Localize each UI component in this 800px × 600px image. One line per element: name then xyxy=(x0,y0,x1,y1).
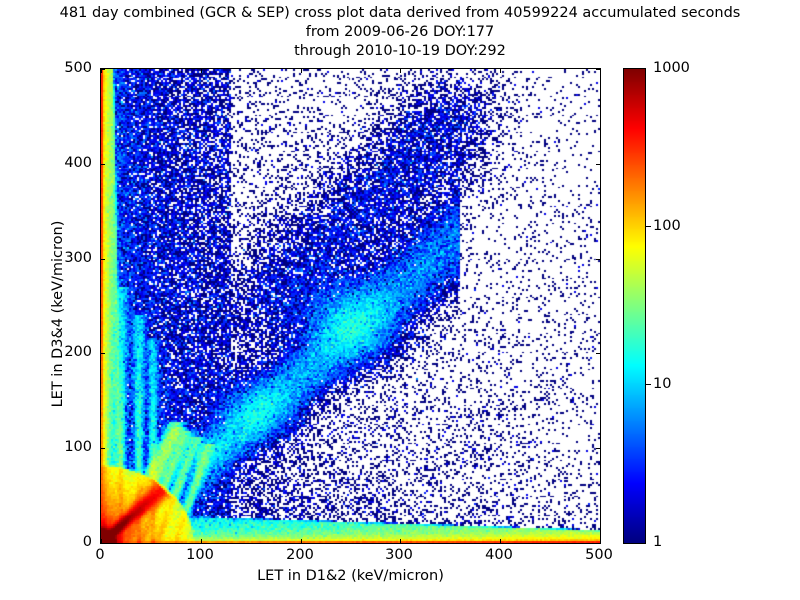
x-tick-label: 500 xyxy=(585,547,613,563)
plot-area xyxy=(100,68,601,544)
y-tick-mark xyxy=(101,448,105,449)
y-tick-mark-right xyxy=(596,69,600,70)
x-tick-label: 400 xyxy=(485,547,513,563)
colorbar-tick-label: 100 xyxy=(653,218,681,234)
y-tick-mark-right xyxy=(596,164,600,165)
colorbar xyxy=(623,68,646,544)
y-tick-mark xyxy=(101,69,105,70)
y-axis-label: LET in D3&4 (keV/micron) xyxy=(50,76,66,552)
y-tick-mark xyxy=(101,543,105,544)
x-tick-mark-top xyxy=(600,69,601,73)
chart-title: 481 day combined (GCR & SEP) cross plot … xyxy=(0,4,800,61)
colorbar-tick-label: 1000 xyxy=(653,60,690,76)
y-tick-mark xyxy=(101,353,105,354)
colorbar-tick-mark xyxy=(646,226,651,227)
y-tick-label: 500 xyxy=(32,60,92,76)
title-line-1: 481 day combined (GCR & SEP) cross plot … xyxy=(0,4,800,23)
title-line-3: through 2010-10-19 DOY:292 xyxy=(0,42,800,61)
x-tick-label: 100 xyxy=(186,547,214,563)
x-tick-label: 0 xyxy=(95,547,104,563)
x-tick-mark-top xyxy=(400,69,401,73)
y-tick-mark-right xyxy=(596,259,600,260)
colorbar-tick-label: 10 xyxy=(653,376,671,392)
x-tick-mark-top xyxy=(201,69,202,73)
x-tick-mark xyxy=(500,539,501,543)
y-tick-mark xyxy=(101,259,105,260)
colorbar-gradient xyxy=(624,69,645,543)
x-tick-mark xyxy=(600,539,601,543)
x-tick-label: 300 xyxy=(385,547,413,563)
x-tick-label: 200 xyxy=(286,547,314,563)
x-tick-mark xyxy=(201,539,202,543)
x-tick-mark-top xyxy=(301,69,302,73)
y-tick-mark-right xyxy=(596,353,600,354)
title-line-2: from 2009-06-26 DOY:177 xyxy=(0,23,800,42)
y-tick-mark xyxy=(101,164,105,165)
colorbar-tick-mark xyxy=(646,384,651,385)
y-tick-mark-right xyxy=(596,543,600,544)
x-tick-mark-top xyxy=(500,69,501,73)
colorbar-tick-label: 1 xyxy=(653,534,662,550)
x-axis-label: LET in D1&2 (keV/micron) xyxy=(100,568,601,584)
y-tick-mark-right xyxy=(596,448,600,449)
heatmap-scatter-plot xyxy=(101,69,600,543)
x-tick-mark xyxy=(301,539,302,543)
figure-canvas: 481 day combined (GCR & SEP) cross plot … xyxy=(0,0,800,600)
x-tick-mark xyxy=(400,539,401,543)
